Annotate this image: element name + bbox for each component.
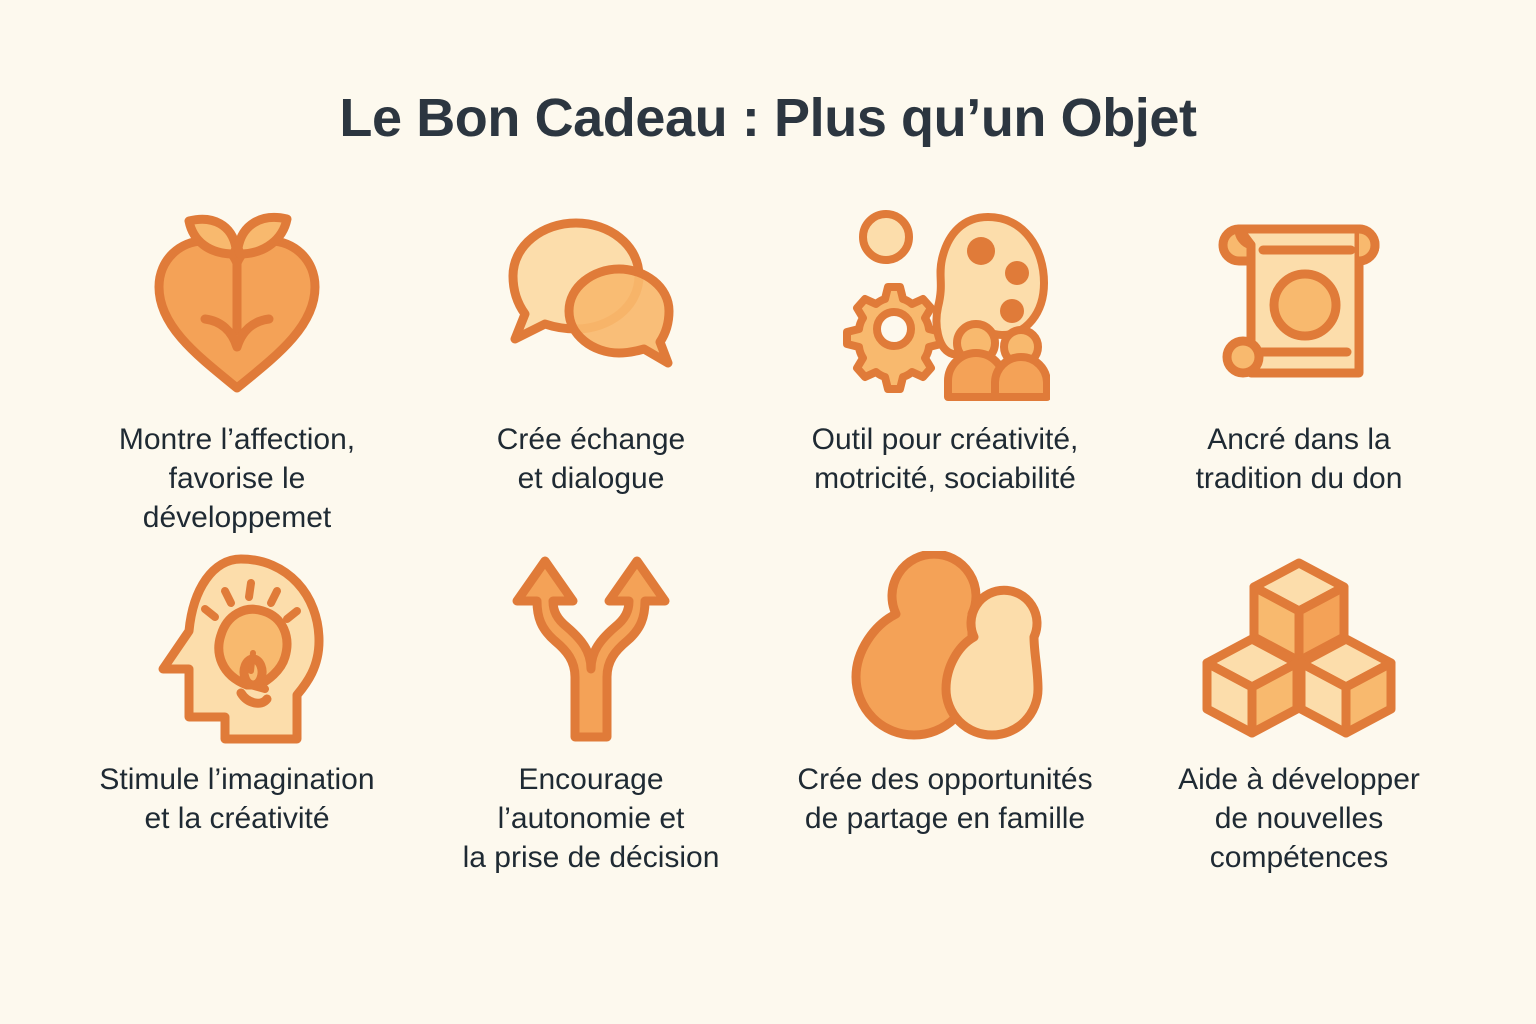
benefit-card-autonomy: Encourage l’autonomie et la prise de déc… xyxy=(414,546,768,906)
two-figures-icon xyxy=(840,546,1050,746)
benefit-caption: Ancré dans la tradition du don xyxy=(1196,420,1403,498)
head-lightbulb-icon xyxy=(137,546,337,746)
benefit-caption: Crée échange et dialogue xyxy=(497,420,685,498)
benefit-caption: Crée des opportunités de partage en fami… xyxy=(797,760,1092,838)
benefit-card-tradition: Ancré dans la tradition du don xyxy=(1122,196,1476,546)
forked-arrow-icon xyxy=(501,546,681,746)
benefit-card-family-sharing: Crée des opportunités de partage en fami… xyxy=(768,546,1122,906)
benefit-card-skills: Aide à développer de nouvelles compétenc… xyxy=(1122,546,1476,906)
benefit-caption: Outil pour créativité, motricité, sociab… xyxy=(812,420,1079,498)
scroll-seal-icon xyxy=(1199,196,1399,406)
ball-gear-palette-people-icon xyxy=(840,196,1050,406)
benefit-caption: Aide à développer de nouvelles compétenc… xyxy=(1178,760,1420,877)
speech-bubbles-icon xyxy=(491,196,691,406)
benefit-card-dialogue: Crée échange et dialogue xyxy=(414,196,768,546)
benefit-card-affection: Montre l’affection, favorise le développ… xyxy=(60,196,414,546)
benefit-card-creativity-tool: Outil pour créativité, motricité, sociab… xyxy=(768,196,1122,546)
building-blocks-icon xyxy=(1194,546,1404,746)
page-title: Le Bon Cadeau : Plus qu’un Objet xyxy=(0,88,1536,148)
benefit-caption: Stimule l’imagination et la créativité xyxy=(99,760,374,838)
benefits-grid: Montre l’affection, favorise le développ… xyxy=(60,196,1476,906)
benefit-caption: Montre l’affection, favorise le développ… xyxy=(74,420,400,537)
benefit-card-imagination: Stimule l’imagination et la créativité xyxy=(60,546,414,906)
heart-sprout-icon xyxy=(137,196,337,406)
infographic-canvas: Le Bon Cadeau : Plus qu’un Objet Montre … xyxy=(0,0,1536,1024)
benefit-caption: Encourage l’autonomie et la prise de déc… xyxy=(463,760,720,877)
